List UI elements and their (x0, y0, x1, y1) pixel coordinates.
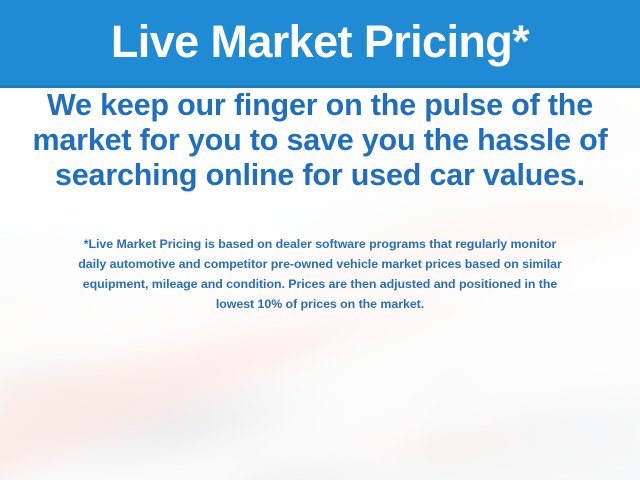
page-title: Live Market Pricing* (111, 19, 529, 64)
header-banner: Live Market Pricing* (0, 0, 640, 88)
disclaimer-line-2: daily automotive and competitor pre-owne… (20, 254, 620, 274)
disclaimer-line-3: equipment, mileage and condition. Prices… (20, 274, 620, 294)
headline-line-3: searching online for used car values. (20, 158, 620, 193)
disclaimer-block: *Live Market Pricing is based on dealer … (20, 234, 620, 314)
headline-line-1: We keep our finger on the pulse of the (20, 88, 620, 123)
live-market-pricing-graphic: Live Market Pricing* We keep our finger … (0, 0, 640, 480)
headline-block: We keep our finger on the pulse of the m… (20, 88, 620, 193)
disclaimer-line-4: lowest 10% of prices on the market. (20, 294, 620, 314)
headline-line-2: market for you to save you the hassle of (20, 123, 620, 158)
disclaimer-line-1: *Live Market Pricing is based on dealer … (20, 234, 620, 254)
